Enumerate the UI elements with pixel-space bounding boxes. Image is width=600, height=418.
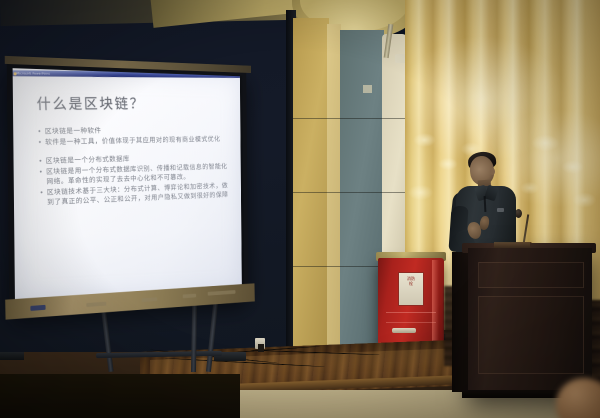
bullet-marker-icon: •: [39, 188, 44, 208]
fire-cabinet-label-line2: 栓: [399, 281, 423, 286]
slide-bullet-text: 软件是一种工具，价值体现于其应用对的现有商业模式优化: [45, 134, 227, 147]
wall-panel-seam: [293, 192, 408, 193]
projected-slide: Microsoft PowerPoint 什么是区块链？ • 区块链是一种软件 …: [13, 68, 242, 303]
whiteboard-model-text: [208, 290, 236, 296]
power-plug: [258, 344, 264, 352]
microphone-head-icon: [515, 209, 522, 218]
presentation-photo-scene: 消防 栓 Microsoft PowerPoint 什么是区块链？: [0, 0, 600, 418]
wall-plate: [363, 85, 372, 93]
whiteboard-brand-text: [86, 302, 106, 307]
slide-content: 什么是区块链？ • 区块链是一种软件 • 软件是一种工具，价值体现于其应用对的现…: [13, 75, 242, 303]
fire-cabinet-trim: [386, 322, 436, 323]
slide-bullet-list: • 区块链是一种软件 • 软件是一种工具，价值体现于其应用对的现有商业模式优化 …: [37, 124, 229, 208]
bullet-marker-icon: •: [39, 167, 44, 187]
whiteboard-brand-text: [183, 294, 196, 299]
front-floor-shadow: [0, 374, 240, 418]
interactive-whiteboard[interactable]: Microsoft PowerPoint 什么是区块链？ • 区块链是一种软件 …: [7, 62, 249, 312]
speaker-ear: [490, 168, 495, 175]
slide-bullet-item: • 软件是一种工具，价值体现于其应用对的现有商业模式优化: [38, 134, 228, 147]
slide-title: 什么是区块链？: [36, 93, 145, 114]
wall-panel-tan-light: [327, 24, 341, 376]
whiteboard-brand-text: [142, 297, 158, 302]
fire-cabinet-trim: [386, 312, 436, 313]
floor-av-device: [0, 352, 24, 360]
bullet-marker-icon: •: [38, 156, 43, 166]
wall-panel-seam: [293, 118, 408, 119]
speaker-shirt-logo: [497, 208, 504, 212]
bullet-marker-icon: •: [38, 138, 43, 148]
fire-cabinet-label: 消防 栓: [398, 272, 424, 306]
bullet-marker-icon: •: [37, 127, 42, 137]
whiteboard-power-button[interactable]: [30, 305, 45, 311]
fire-cabinet-handle[interactable]: [392, 328, 416, 333]
lectern-panel: [478, 296, 584, 374]
lectern-panel: [478, 262, 584, 288]
wall-panel-tan: [293, 18, 329, 378]
